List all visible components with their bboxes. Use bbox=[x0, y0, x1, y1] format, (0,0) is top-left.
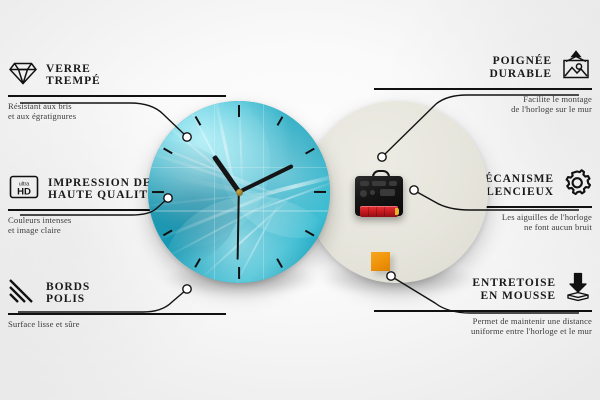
foam-spacer[interactable] bbox=[371, 252, 390, 271]
front-clock-face[interactable] bbox=[148, 101, 330, 283]
clock-mechanism[interactable] bbox=[355, 170, 403, 216]
hands-hub bbox=[236, 189, 243, 196]
feature-bords-polis[interactable]: BORDS POLIS Surface lisse et sûre bbox=[8, 276, 226, 329]
gear-icon bbox=[562, 168, 592, 203]
feature-description: Surface lisse et sûre bbox=[8, 319, 226, 329]
arrow-onto-pad-icon bbox=[564, 272, 592, 307]
feature-title: ENTRETOISE EN MOUSSE bbox=[472, 277, 556, 302]
feature-title: VERRE TREMPÉ bbox=[46, 63, 101, 88]
diamond-icon bbox=[8, 60, 38, 91]
feature-title: POIGNÉE DURABLE bbox=[489, 55, 552, 80]
feature-description: Permet de maintenir une distance uniform… bbox=[374, 316, 592, 337]
feature-title: IMPRESSION DE HAUTE QUALITÉ bbox=[48, 177, 157, 202]
diagonal-lines-icon bbox=[8, 278, 38, 309]
hanging-picture-icon bbox=[560, 50, 592, 85]
feature-title: BORDS POLIS bbox=[46, 281, 90, 306]
hour-marker bbox=[152, 191, 164, 193]
hour-marker bbox=[238, 105, 240, 117]
battery bbox=[360, 206, 398, 217]
ultra-hd-icon: ultra HD bbox=[8, 174, 40, 205]
divider bbox=[374, 88, 592, 90]
svg-text:HD: HD bbox=[17, 186, 31, 197]
hour-marker bbox=[314, 191, 326, 193]
divider bbox=[8, 313, 226, 315]
hour-marker bbox=[238, 267, 240, 279]
infographic-canvas: VERRE TREMPÉ Résistant aux bris et aux é… bbox=[0, 0, 600, 400]
mechanism-body bbox=[355, 176, 403, 216]
divider bbox=[8, 95, 226, 97]
divider bbox=[374, 310, 592, 312]
